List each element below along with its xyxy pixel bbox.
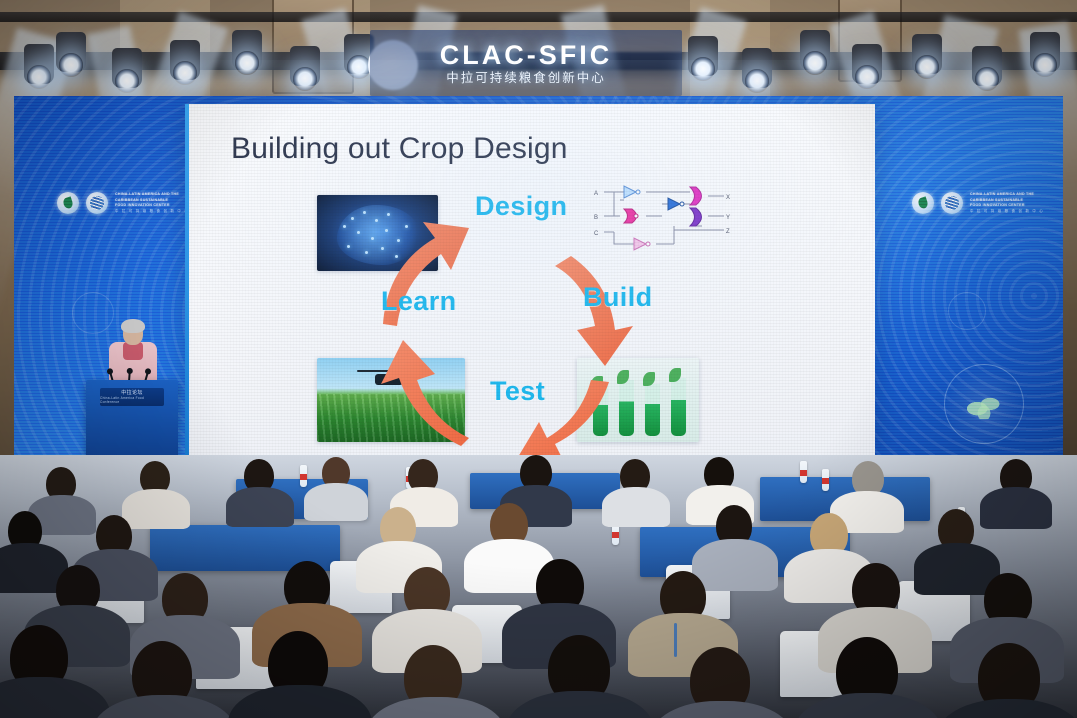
- podium-plate-line2: China-Latin America Food Conference: [100, 396, 164, 404]
- water-bottle: [300, 465, 307, 487]
- water-bottle: [800, 461, 807, 483]
- stage-light: [852, 44, 882, 84]
- stage-light: [972, 46, 1002, 86]
- stage-light: [56, 32, 86, 72]
- stage-light: [688, 36, 718, 76]
- podium-name-plate: 中拉论坛 China-Latin America Food Conference: [100, 388, 164, 406]
- banner-title: CLAC-SFIC: [440, 41, 612, 69]
- arrow-test-to-learn: [381, 340, 469, 446]
- cycle-label-learn: Learn: [381, 286, 457, 317]
- water-bottle: [822, 469, 829, 491]
- cycle-label-test: Test: [490, 376, 545, 407]
- stage-light: [290, 46, 320, 86]
- presentation-slide: Building out Crop Design: [185, 104, 875, 456]
- conference-photo-scene: CHINA-LATIN AMERICA AND THE CARIBBEAN SU…: [0, 0, 1077, 718]
- podium-lectern: 中拉论坛 China-Latin America Food Conference: [86, 380, 178, 466]
- stage-light: [800, 30, 830, 70]
- slide-left-edge: [185, 104, 189, 456]
- cycle-label-build: Build: [583, 282, 653, 313]
- stage-light: [742, 48, 772, 88]
- speaker-hair: [121, 319, 145, 333]
- banner-subtitle: 中拉可持续粮食创新中心: [446, 71, 606, 85]
- speaker-presenter: [107, 322, 159, 384]
- stage-light: [112, 48, 142, 88]
- stage-light: [1030, 32, 1060, 72]
- event-banner: CLAC-SFIC 中拉可持续粮食创新中心: [370, 30, 682, 96]
- slide-title: Building out Crop Design: [231, 132, 568, 166]
- stage-light: [24, 44, 54, 84]
- stage-light: [232, 30, 262, 70]
- lighting-truss-upper: [0, 12, 1077, 22]
- cycle-label-design: Design: [475, 191, 567, 222]
- stage-light: [170, 40, 200, 80]
- audience-area: [0, 455, 1077, 718]
- stage-light: [912, 34, 942, 74]
